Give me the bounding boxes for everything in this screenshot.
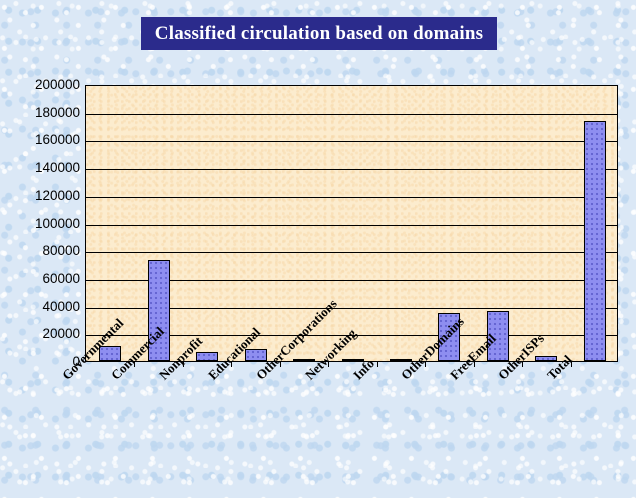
x-axis-tick xyxy=(183,361,184,367)
y-axis-tick-label: 40000 xyxy=(2,300,80,313)
x-axis-tick xyxy=(571,361,572,367)
y-axis-tick-label: 0 xyxy=(2,355,80,368)
bar xyxy=(390,359,412,361)
bar xyxy=(293,359,315,361)
bar xyxy=(196,352,218,361)
bar xyxy=(148,260,170,361)
x-axis-tick xyxy=(231,361,232,367)
y-axis: 2000001800001600001400001200001000008000… xyxy=(0,85,80,362)
bar xyxy=(535,356,557,361)
bar xyxy=(438,313,460,361)
y-axis-tick-label: 160000 xyxy=(2,133,80,146)
y-axis-tick-label: 100000 xyxy=(2,217,80,230)
x-axis-tick xyxy=(328,361,329,367)
bar xyxy=(584,121,606,361)
bar xyxy=(342,359,364,361)
x-axis-tick xyxy=(280,361,281,367)
y-axis-tick-label: 200000 xyxy=(2,78,80,91)
y-axis-tick-label: 80000 xyxy=(2,244,80,257)
chart-container: Classified circulation based on domains … xyxy=(0,0,636,498)
y-axis-tick-label: 180000 xyxy=(2,106,80,119)
y-axis-tick-label: 140000 xyxy=(2,161,80,174)
x-axis-tick xyxy=(377,361,378,367)
x-axis-tick xyxy=(474,361,475,367)
chart-title-bar: Classified circulation based on domains xyxy=(141,17,497,50)
x-axis-tick xyxy=(425,361,426,367)
y-axis-tick-label: 20000 xyxy=(2,327,80,340)
x-axis-tick xyxy=(134,361,135,367)
y-axis-tick-label: 120000 xyxy=(2,189,80,202)
bar xyxy=(99,346,121,361)
bar-series xyxy=(86,86,617,361)
bar xyxy=(245,349,267,361)
x-axis-tick xyxy=(522,361,523,367)
y-axis-tick-label: 60000 xyxy=(2,272,80,285)
plot-area xyxy=(85,85,618,362)
bar xyxy=(487,311,509,361)
chart-title: Classified circulation based on domains xyxy=(155,23,483,45)
